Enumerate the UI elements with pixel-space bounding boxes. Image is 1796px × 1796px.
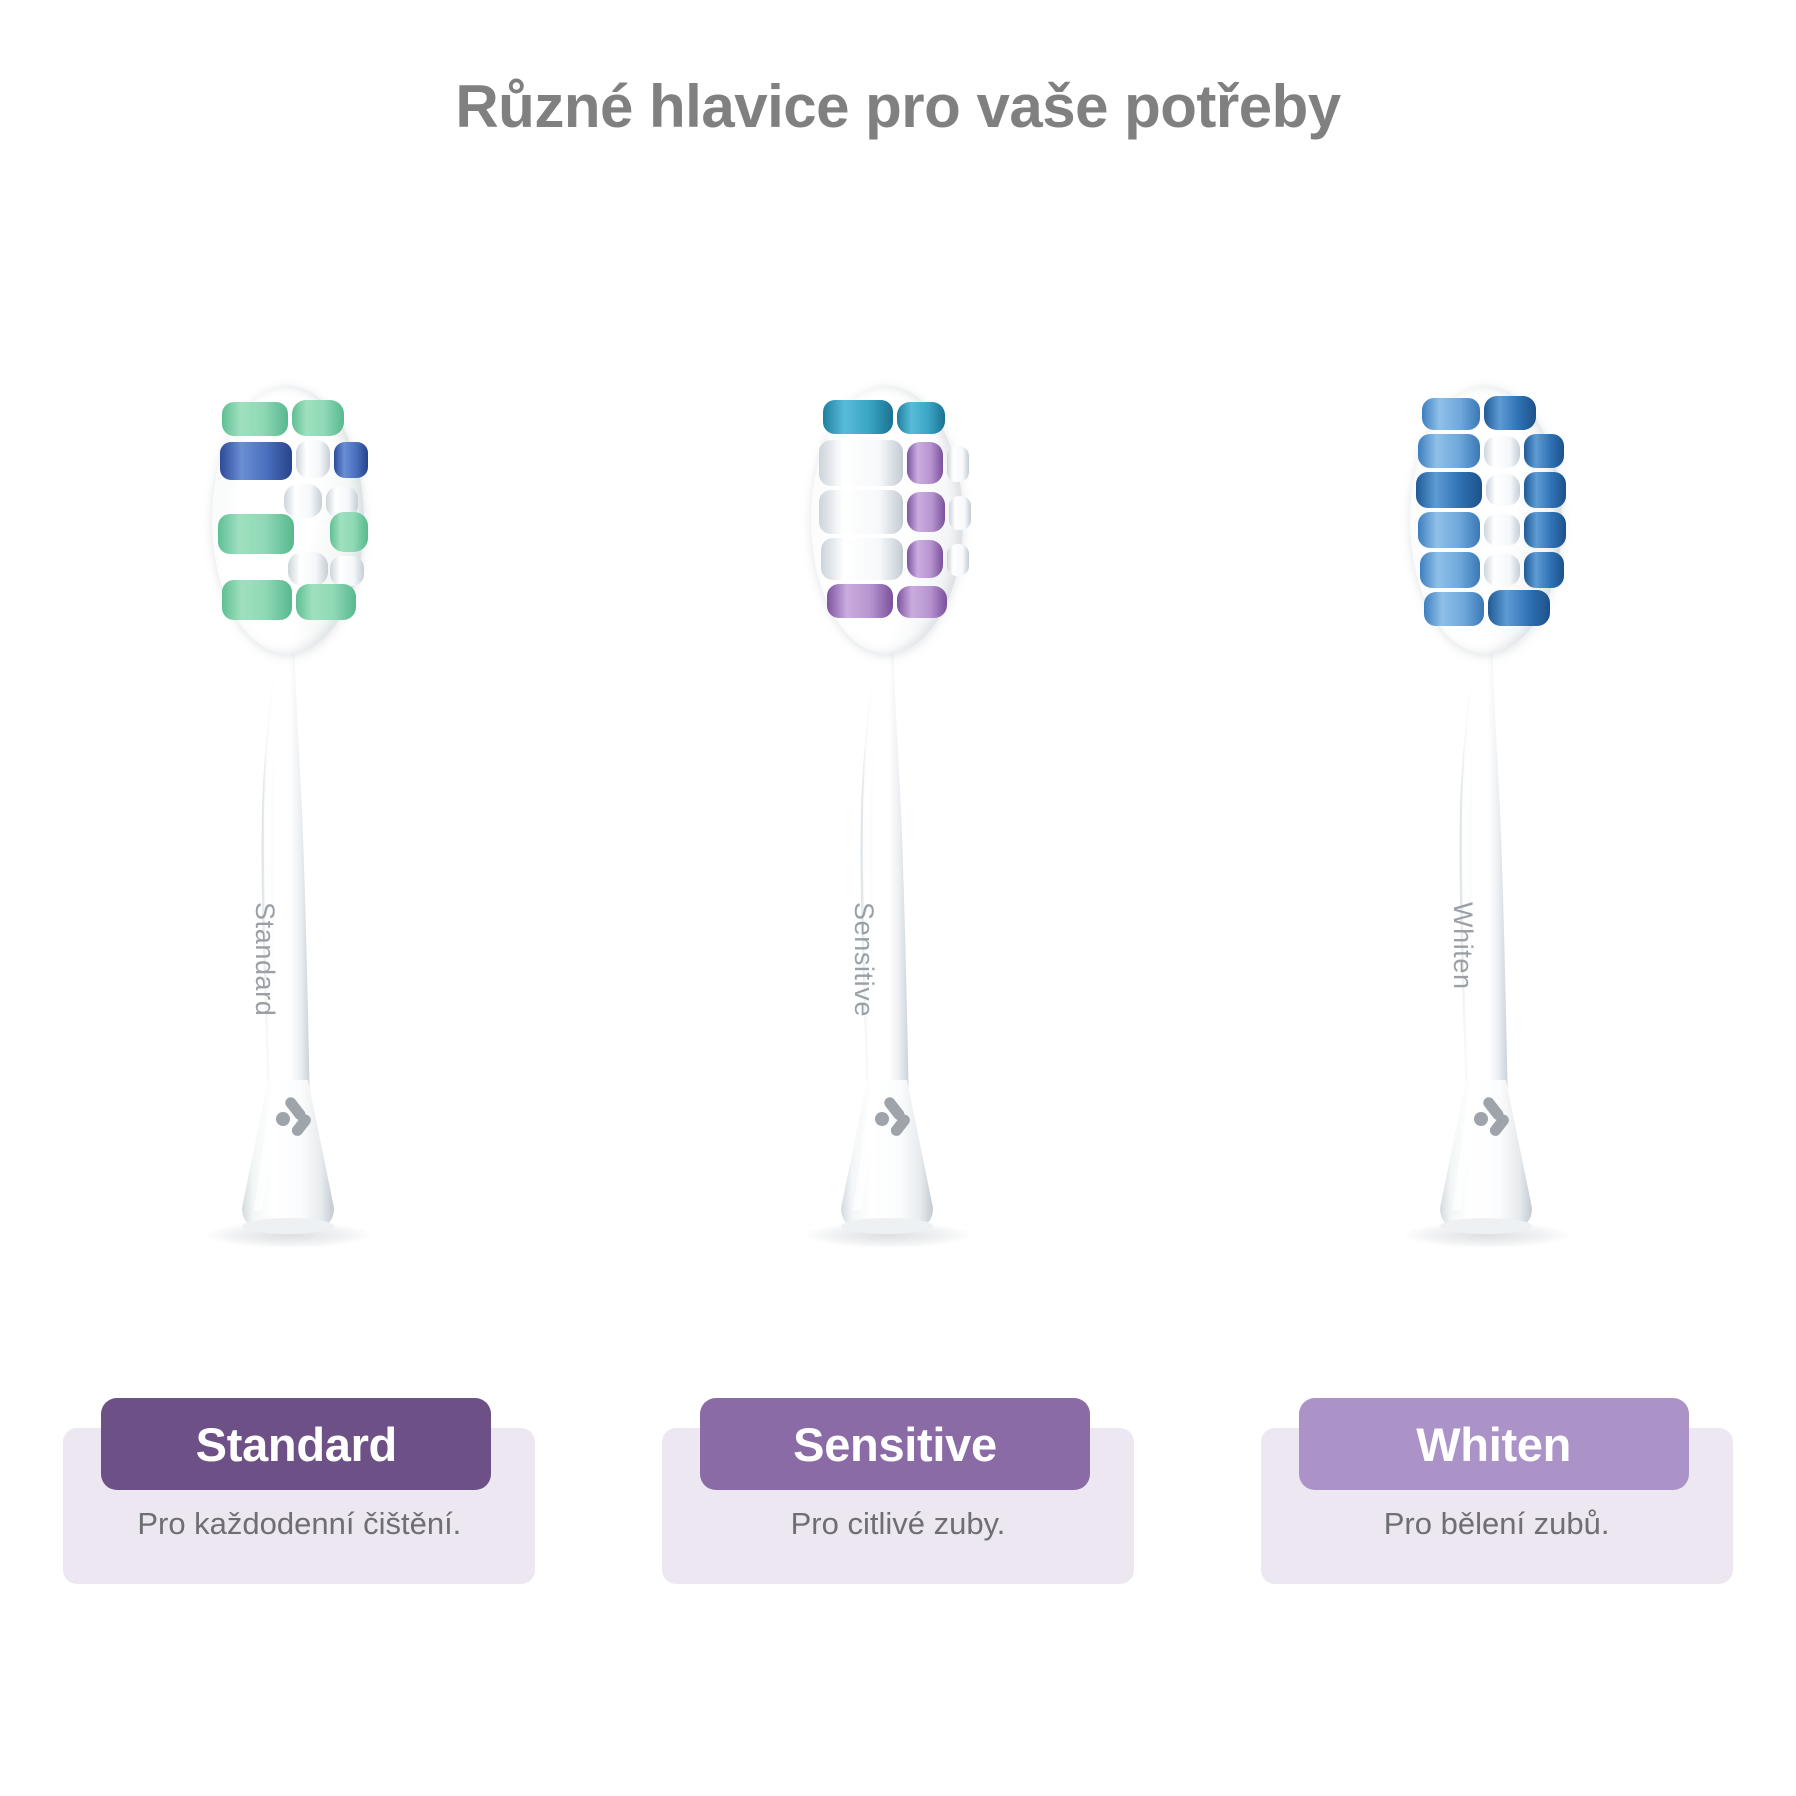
card-whiten[interactable]: Whiten Pro bělení zubů. bbox=[1261, 1398, 1733, 1584]
brand-chevron-dot-logo-icon bbox=[869, 1092, 921, 1144]
handle-label-whiten: Whiten bbox=[1447, 902, 1478, 990]
brand-chevron-dot-logo-icon bbox=[270, 1092, 322, 1144]
card-sensitive[interactable]: Sensitive Pro citlivé zuby. bbox=[662, 1398, 1134, 1584]
infographic-page: Různé hlavice pro vaše potřeby bbox=[0, 0, 1796, 1796]
product-sensitive[interactable]: Sensitive bbox=[683, 380, 1113, 1280]
product-whiten[interactable]: Whiten bbox=[1282, 380, 1712, 1280]
brush-neck bbox=[835, 610, 939, 1110]
card-description-whiten: Pro bělení zubů. bbox=[1261, 1506, 1733, 1542]
handle-label-sensitive: Sensitive bbox=[848, 902, 879, 1017]
product-image-row: Standard bbox=[0, 380, 1796, 1280]
card-title-pill-standard: Standard bbox=[101, 1398, 491, 1490]
brush-head-standard: Standard bbox=[184, 380, 414, 1280]
product-standard[interactable]: Standard bbox=[84, 380, 514, 1280]
card-standard[interactable]: Standard Pro každodenní čištění. bbox=[63, 1398, 535, 1584]
page-title: Různé hlavice pro vaše potřeby bbox=[0, 72, 1796, 141]
brush-head-whiten: Whiten bbox=[1382, 380, 1612, 1280]
handle-label-standard: Standard bbox=[249, 902, 280, 1016]
brush-neck bbox=[1434, 610, 1538, 1110]
brand-chevron-dot-logo-icon bbox=[1468, 1092, 1520, 1144]
bristle-field-whiten bbox=[1382, 380, 1612, 680]
caption-cards-row: Standard Pro každodenní čištění. Sensiti… bbox=[0, 1398, 1796, 1698]
brush-head-sensitive: Sensitive bbox=[783, 380, 1013, 1280]
brush-neck bbox=[236, 610, 340, 1110]
bristle-field-sensitive bbox=[783, 380, 1013, 680]
card-description-sensitive: Pro citlivé zuby. bbox=[662, 1506, 1134, 1542]
bristle-field-standard bbox=[184, 380, 414, 680]
card-title-pill-whiten: Whiten bbox=[1299, 1398, 1689, 1490]
card-description-standard: Pro každodenní čištění. bbox=[63, 1506, 535, 1542]
card-title-pill-sensitive: Sensitive bbox=[700, 1398, 1090, 1490]
